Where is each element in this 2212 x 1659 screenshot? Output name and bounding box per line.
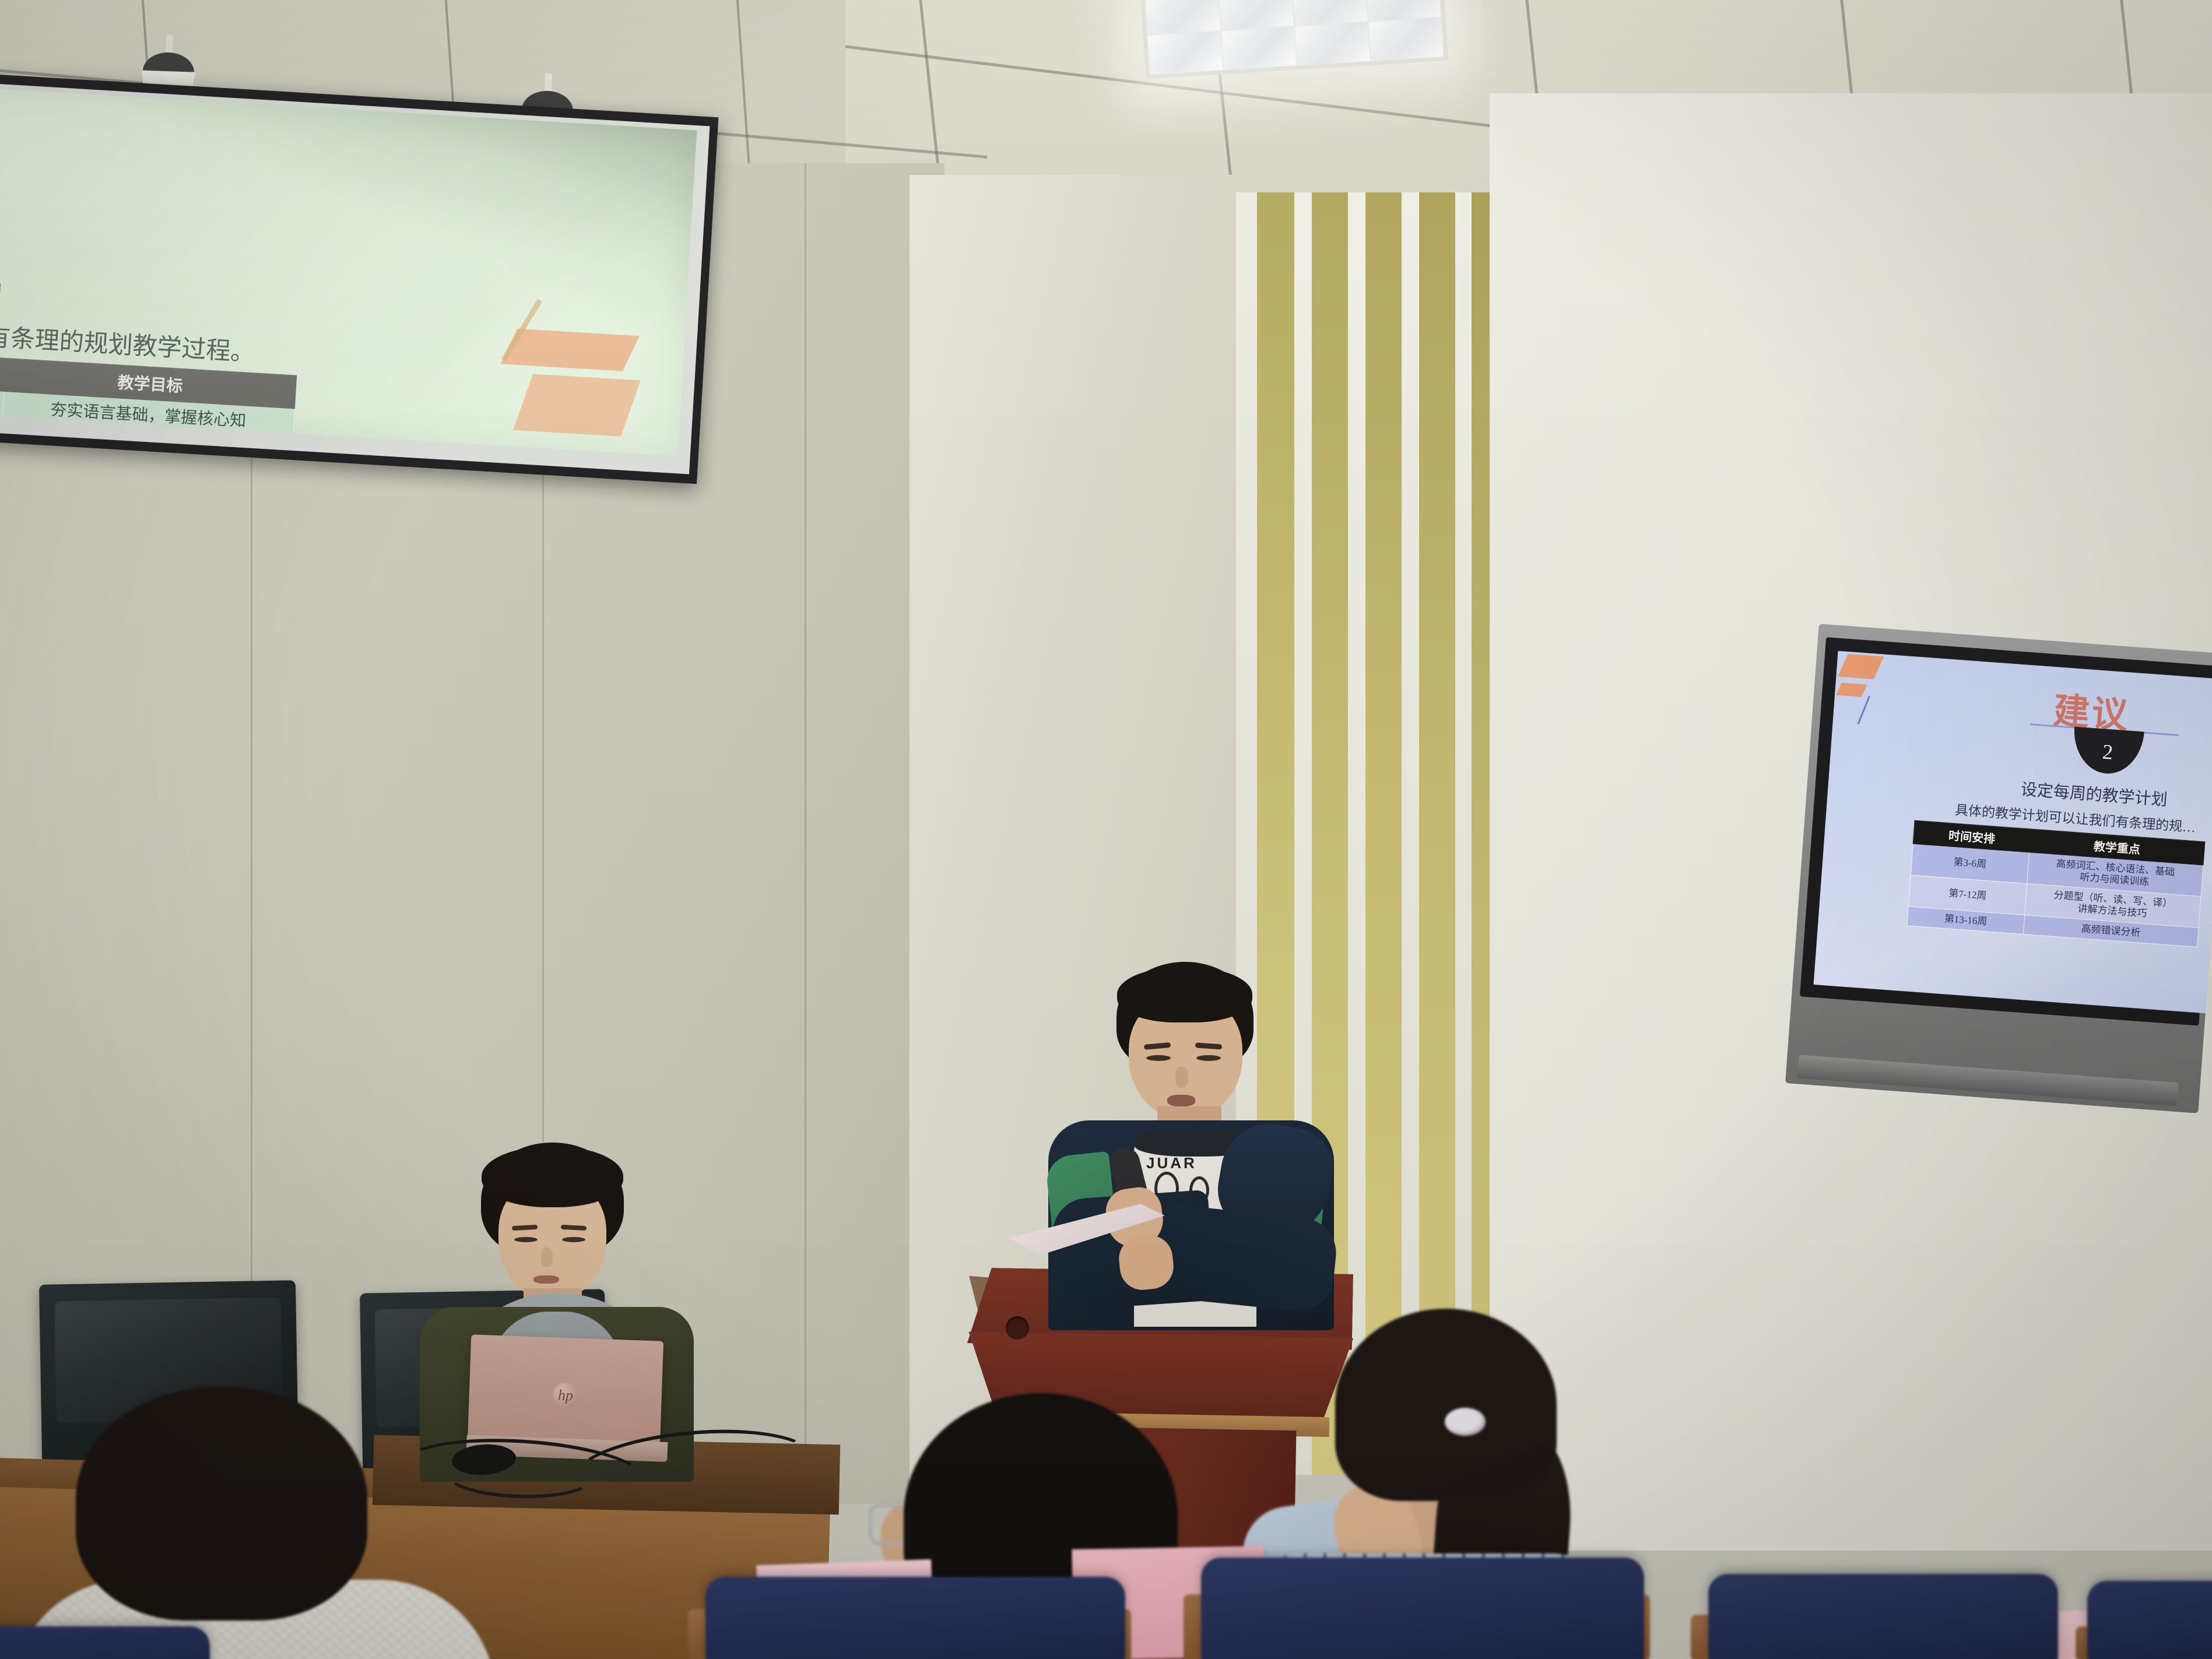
- audience-left-hair: [76, 1387, 367, 1621]
- operator-nose: [541, 1247, 553, 1267]
- slide-subheading: 具体的教学计划可以让我们有条理的规划教学过程。: [0, 300, 256, 368]
- lecture-hall-photo: 建议 2 设定每周的教学计划 具体的教学计划可以让我们有条理的规划教学过程。 教…: [0, 0, 2212, 1659]
- presenter-arm-right: [1156, 1204, 1339, 1314]
- auditorium-seat-left: [705, 1577, 1125, 1659]
- presenter-fringe: [1117, 966, 1252, 1022]
- hair-tie-icon: [1445, 1408, 1486, 1436]
- presenter-nose: [1175, 1067, 1188, 1088]
- operator-eye-right: [562, 1237, 585, 1242]
- operator-fringe: [482, 1146, 623, 1207]
- audience-member-left: [47, 1387, 431, 1659]
- operator-eye-left: [514, 1237, 538, 1242]
- tv-slide-table: 时间安排 教学重点 第3-6周 高频词汇、核心语法、基础 听力与阅读训练 第7-…: [1906, 820, 2205, 947]
- slide-heading: 设定每周的教学计划: [0, 258, 4, 318]
- presenter-eye-right: [1196, 1055, 1221, 1061]
- presenter-eye-left: [1146, 1055, 1171, 1061]
- tv-slide: 建议 2 设定每周的教学计划 具体的教学计划可以让我们有条理的规… 时间安排 教…: [1814, 651, 2212, 1014]
- tv-decor-line: [1858, 695, 1870, 724]
- auditorium-seat-far-left: [0, 1626, 210, 1659]
- audience-right-hair: [1335, 1309, 1557, 1501]
- auditorium-seat-far-right: [2087, 1581, 2212, 1659]
- tv-decor-shape-2: [1836, 683, 1867, 697]
- tv-decor-shape-1: [1838, 654, 1884, 679]
- wall-mounted-tv: 建议 2 设定每周的教学计划 具体的教学计划可以让我们有条理的规… 时间安排 教…: [1785, 624, 2212, 1113]
- operator-mouth: [533, 1275, 559, 1284]
- slide-decor-shape-2: [513, 374, 641, 437]
- auditorium-seat-center: [1201, 1558, 1644, 1659]
- auditorium-seat-right: [1708, 1574, 2058, 1659]
- tv-slide-badge: 2: [2071, 727, 2144, 776]
- presenter-mouth: [1167, 1095, 1195, 1106]
- presenter-at-podium: JUAR: [1014, 962, 1341, 1323]
- projected-slide: 建议 2 设定每周的教学计划 具体的教学计划可以让我们有条理的规划教学过程。 教…: [0, 78, 697, 456]
